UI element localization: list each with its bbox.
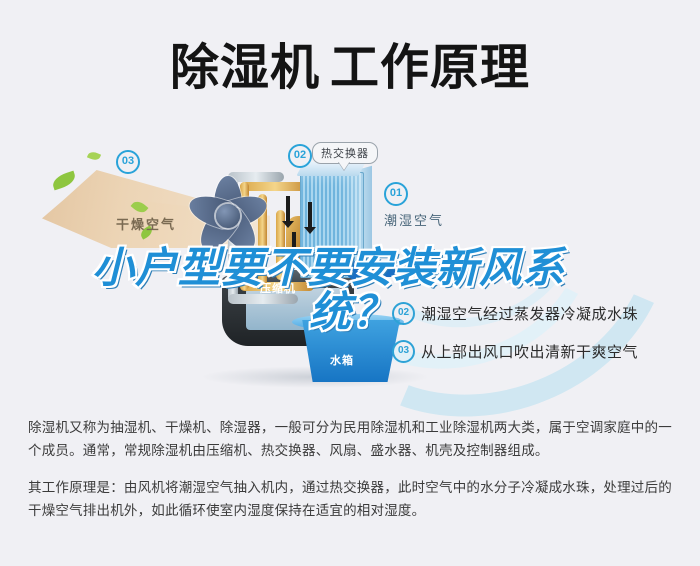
description-paragraph-1: 除湿机又称为抽湿机、干燥机、除湿器，一般可分为民用除湿机和工业除湿机两大类，属于…	[28, 416, 676, 462]
header-banner: 除湿机工作原理	[0, 0, 700, 130]
diagram-badge-01: 01	[384, 182, 408, 206]
overlay-headline: 小户型要不要安装新风系 统？	[92, 246, 612, 334]
humid-air-label: 潮湿空气	[384, 210, 444, 229]
leaf-icon	[87, 150, 101, 162]
overlay-headline-line-1: 小户型要不要安装新风系	[92, 246, 612, 290]
overlay-headline-line-2: 统？	[92, 290, 612, 334]
diagram-badge-02: 02	[288, 144, 312, 168]
flow-arrow-icon	[286, 196, 290, 222]
legend-badge: 03	[392, 340, 415, 363]
description-paragraph-2: 其工作原理是：由风机将潮湿空气抽入机内，通过热交换器，此时空气中的水分子冷凝成水…	[28, 476, 676, 522]
leaf-icon	[51, 171, 78, 191]
page-title: 除湿机工作原理	[0, 38, 700, 98]
page-title-part-1: 除湿机	[170, 41, 320, 95]
heat-exchanger-callout-tail	[338, 161, 350, 170]
flow-arrow-icon	[308, 202, 312, 228]
fan-hub	[216, 204, 240, 228]
legend-item: 03 从上部出风口吹出清新干爽空气	[392, 334, 692, 368]
water-tank-label: 水箱	[330, 352, 354, 368]
page-title-part-2: 工作原理	[330, 41, 530, 95]
legend-item-label: 从上部出风口吹出清新干爽空气	[421, 341, 638, 362]
description-block: 除湿机又称为抽湿机、干燥机、除湿器，一般可分为民用除湿机和工业除湿机两大类，属于…	[28, 416, 676, 522]
diagram-badge-03: 03	[116, 150, 140, 174]
dry-air-label: 干燥空气	[116, 214, 176, 233]
